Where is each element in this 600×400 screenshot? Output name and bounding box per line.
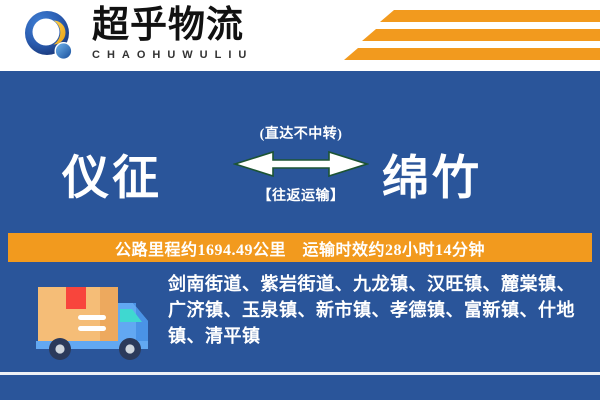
stripe-2 xyxy=(362,29,600,41)
route-row: 仪征 (直达不中转) 【往返运输】 绵竹 xyxy=(0,117,600,227)
banner-body: 仪征 (直达不中转) 【往返运输】 绵竹 公路里程约1694.49公里 运输时效… xyxy=(0,71,600,400)
decorative-stripes xyxy=(310,8,600,66)
coverage-section: 剑南街道、紫岩街道、九龙镇、汉旺镇、麓棠镇、广济镇、玉泉镇、新市镇、孝德镇、富新… xyxy=(0,267,600,377)
round-trip-caption: 【往返运输】 xyxy=(230,185,372,205)
distance-duration-text: 公路里程约1694.49公里 运输时效约28小时14分钟 xyxy=(115,236,485,260)
route-arrow-block: (直达不中转) 【往返运输】 xyxy=(230,117,372,227)
distance-duration-bar: 公路里程约1694.49公里 运输时效约28小时14分钟 xyxy=(8,233,592,262)
stripe-1 xyxy=(380,10,600,22)
circular-q-logo xyxy=(22,9,78,65)
banner-header: 超乎物流 CHAOHUWULIU xyxy=(0,0,600,71)
direct-service-caption: (直达不中转) xyxy=(230,123,372,143)
delivery-truck-icon xyxy=(32,273,156,361)
coverage-areas-text: 剑南街道、紫岩街道、九龙镇、汉旺镇、麓棠镇、广济镇、玉泉镇、新市镇、孝德镇、富新… xyxy=(168,271,586,349)
logistics-route-banner: 超乎物流 CHAOHUWULIU 仪征 (直达不中转) 【往返运输】 绵竹 xyxy=(0,0,600,400)
brand-name-en: CHAOHUWULIU xyxy=(92,49,253,61)
stripe-3 xyxy=(344,48,600,60)
brand-lockup: 超乎物流 CHAOHUWULIU xyxy=(92,6,253,61)
bottom-divider xyxy=(0,372,600,375)
double-headed-arrow-icon xyxy=(230,149,372,179)
origin-city: 仪征 xyxy=(62,139,162,208)
brand-name-cn: 超乎物流 xyxy=(92,6,253,46)
destination-city: 绵竹 xyxy=(382,139,482,208)
